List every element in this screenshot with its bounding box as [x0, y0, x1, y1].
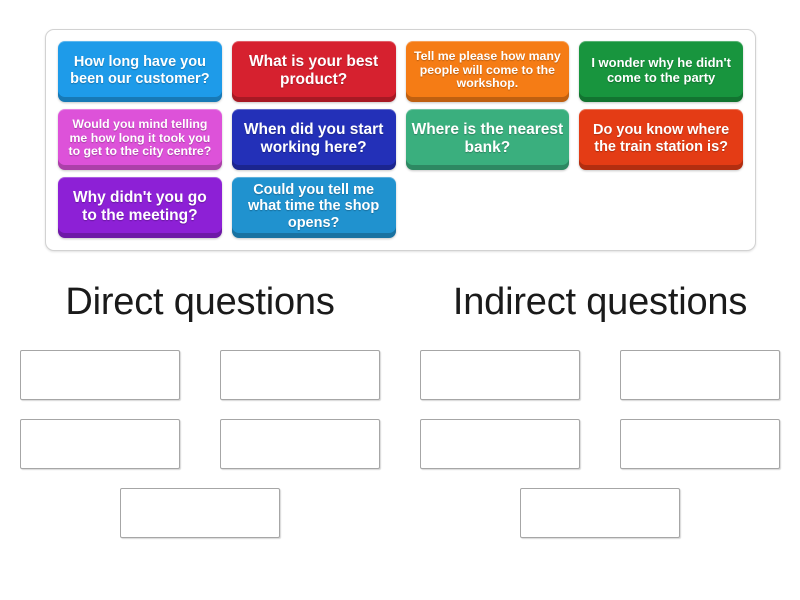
tile-tray-grid: How long have you been our customer? Wha… [53, 38, 748, 242]
dropzone[interactable] [20, 350, 180, 400]
zone-slot [600, 419, 800, 469]
dropzone[interactable] [620, 419, 780, 469]
dropzone[interactable] [220, 419, 380, 469]
tile-slot: Do you know where the train station is? [574, 106, 748, 174]
draggable-tile[interactable]: Why didn't you go to the meeting? [58, 177, 222, 238]
tile-label: I wonder why he didn't come to the party [585, 56, 737, 85]
zone-slot [0, 488, 400, 538]
dropzone[interactable] [420, 350, 580, 400]
tile-slot: How long have you been our customer? [53, 38, 227, 106]
dropzone[interactable] [520, 488, 680, 538]
draggable-tile[interactable]: Do you know where the train station is? [579, 109, 743, 170]
dropzone-grid [400, 350, 800, 557]
tile-label: Could you tell me what time the shop ope… [238, 182, 390, 231]
dropzone-grid [0, 350, 400, 557]
tile-slot: When did you start working here? [227, 106, 401, 174]
zone-slot [200, 350, 400, 400]
tile-slot: I wonder why he didn't come to the party [574, 38, 748, 106]
tile-slot: Where is the nearest bank? [401, 106, 575, 174]
zone-slot [600, 350, 800, 400]
draggable-tile[interactable]: What is your best product? [232, 41, 396, 102]
tile-label: Why didn't you go to the meeting? [64, 189, 216, 224]
dropzone[interactable] [420, 419, 580, 469]
tile-tray: How long have you been our customer? Wha… [45, 29, 756, 251]
tile-label: When did you start working here? [238, 121, 390, 156]
zone-slot [400, 350, 600, 400]
zone-slot [400, 419, 600, 469]
tile-label: Do you know where the train station is? [585, 122, 737, 155]
zone-slot [200, 419, 400, 469]
draggable-tile[interactable]: When did you start working here? [232, 109, 396, 170]
tile-slot: Would you mind telling me how long it to… [53, 106, 227, 174]
activity-page: How long have you been our customer? Wha… [0, 0, 800, 600]
zone-slot [0, 350, 200, 400]
tile-label: Where is the nearest bank? [412, 121, 564, 156]
group-title: Indirect questions [453, 282, 747, 324]
tile-slot: What is your best product? [227, 38, 401, 106]
tile-slot: Tell me please how many people will come… [401, 38, 575, 106]
group-indirect-questions: Indirect questions [400, 282, 800, 557]
dropzone[interactable] [620, 350, 780, 400]
tile-label: Would you mind telling me how long it to… [64, 118, 216, 160]
dropzone[interactable] [220, 350, 380, 400]
draggable-tile[interactable]: How long have you been our customer? [58, 41, 222, 102]
tile-label: Tell me please how many people will come… [412, 50, 564, 92]
zone-slot [400, 488, 800, 538]
draggable-tile[interactable]: Would you mind telling me how long it to… [58, 109, 222, 170]
dropzone[interactable] [20, 419, 180, 469]
group-columns: Direct questions Indirec [0, 282, 800, 557]
draggable-tile[interactable]: Where is the nearest bank? [406, 109, 570, 170]
tile-label: What is your best product? [238, 53, 390, 88]
draggable-tile[interactable]: I wonder why he didn't come to the party [579, 41, 743, 102]
group-title: Direct questions [65, 282, 334, 324]
group-direct-questions: Direct questions [0, 282, 400, 557]
dropzone[interactable] [120, 488, 280, 538]
zone-slot [0, 419, 200, 469]
tile-slot: Why didn't you go to the meeting? [53, 174, 227, 242]
tile-label: How long have you been our customer? [64, 54, 216, 87]
tile-slot: Could you tell me what time the shop ope… [227, 174, 401, 242]
draggable-tile[interactable]: Tell me please how many people will come… [406, 41, 570, 102]
draggable-tile[interactable]: Could you tell me what time the shop ope… [232, 177, 396, 238]
